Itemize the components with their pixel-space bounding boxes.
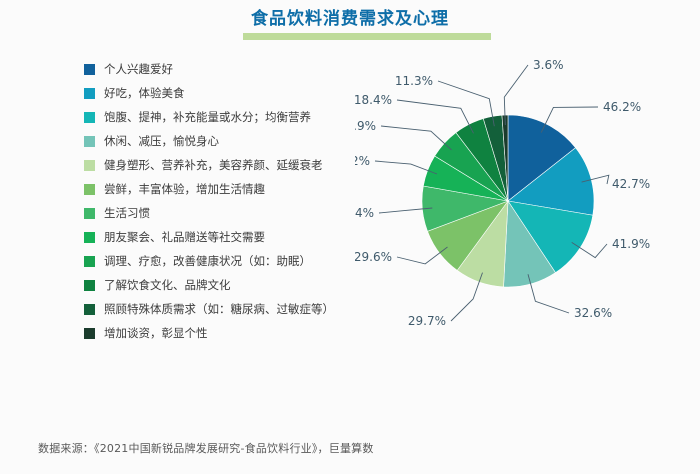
pie-chart-svg: 46.2%42.7%41.9%32.6%29.7%29.6%27.4%19.2%… <box>355 45 700 355</box>
page-title: 食品饮料消费需求及心理 <box>0 8 700 30</box>
legend-item[interactable]: 饱腹、提神，补充能量或水分；均衡营养 <box>84 108 384 132</box>
legend-item-label: 个人兴趣爱好 <box>104 60 173 79</box>
legend-color-swatch <box>84 304 95 315</box>
pie-slice-value-label: 29.6% <box>355 250 392 264</box>
pie-slice-value-label: 46.2% <box>603 100 641 114</box>
legend-item[interactable]: 增加谈资，彰显个性 <box>84 324 384 348</box>
legend-item-label: 照顾特殊体质需求（如：糖尿病、过敏症等） <box>104 300 334 319</box>
chart-legend: 个人兴趣爱好好吃，体验美食饱腹、提神，补充能量或水分；均衡营养休闲、减压，愉悦身… <box>84 60 384 348</box>
pie-slice-value-label: 27.4% <box>355 206 374 220</box>
pie-slice-value-label: 42.7% <box>612 177 650 191</box>
pie-slice-value-label: 41.9% <box>612 237 650 251</box>
legend-item-label: 休闲、减压，愉悦身心 <box>104 132 219 151</box>
legend-item[interactable]: 好吃，体验美食 <box>84 84 384 108</box>
pie-slice-value-label: 3.6% <box>533 58 564 72</box>
pie-slice-value-label: 19.2% <box>355 154 370 168</box>
legend-color-swatch <box>84 136 95 147</box>
legend-item-label: 健身塑形、营养补充，美容养颜、延缓衰老 <box>104 156 323 175</box>
legend-color-swatch <box>84 184 95 195</box>
legend-color-swatch <box>84 280 95 291</box>
legend-item-label: 生活习惯 <box>104 204 150 223</box>
legend-item[interactable]: 休闲、减压，愉悦身心 <box>84 132 384 156</box>
legend-color-swatch <box>84 112 95 123</box>
legend-item-label: 增加谈资，彰显个性 <box>104 324 208 343</box>
pie-slice-value-label: 18.9% <box>355 119 376 133</box>
source-note: 数据来源：《2021中国新锐品牌发展研究-食品饮料行业》，巨量算数 <box>38 440 374 456</box>
legend-item[interactable]: 尝鲜，丰富体验，增加生活情趣 <box>84 180 384 204</box>
pie-slice-value-label: 32.6% <box>574 306 612 320</box>
legend-color-swatch <box>84 160 95 171</box>
legend-item[interactable]: 生活习惯 <box>84 204 384 228</box>
legend-item-label: 调理、疗愈，改善健康状况（如：助眠） <box>104 252 311 271</box>
page-title-text: 食品饮料消费需求及心理 <box>0 8 700 30</box>
legend-item-label: 尝鲜，丰富体验，增加生活情趣 <box>104 180 265 199</box>
pie-chart: 46.2%42.7%41.9%32.6%29.7%29.6%27.4%19.2%… <box>355 45 700 355</box>
legend-item-label: 了解饮食文化、品牌文化 <box>104 276 231 295</box>
legend-color-swatch <box>84 64 95 75</box>
pie-label-leader-line <box>381 126 452 150</box>
legend-item[interactable]: 朋友聚会、礼品赠送等社交需要 <box>84 228 384 252</box>
legend-item[interactable]: 照顾特殊体质需求（如：糖尿病、过敏症等） <box>84 300 384 324</box>
title-underline-bar <box>243 33 491 40</box>
legend-color-swatch <box>84 208 95 219</box>
legend-item[interactable]: 个人兴趣爱好 <box>84 60 384 84</box>
slide-canvas: 食品饮料消费需求及心理 个人兴趣爱好好吃，体验美食饱腹、提神，补充能量或水分；均… <box>0 0 700 474</box>
legend-item[interactable]: 健身塑形、营养补充，美容养颜、延缓衰老 <box>84 156 384 180</box>
legend-color-swatch <box>84 328 95 339</box>
legend-item-label: 饱腹、提神，补充能量或水分；均衡营养 <box>104 108 311 127</box>
legend-color-swatch <box>84 232 95 243</box>
pie-slice-value-label: 11.3% <box>395 74 433 88</box>
legend-color-swatch <box>84 256 95 267</box>
legend-item-label: 朋友聚会、礼品赠送等社交需要 <box>104 228 265 247</box>
pie-slice-value-label: 29.7% <box>408 314 446 328</box>
legend-color-swatch <box>84 88 95 99</box>
legend-item[interactable]: 调理、疗愈，改善健康状况（如：助眠） <box>84 252 384 276</box>
legend-item-label: 好吃，体验美食 <box>104 84 185 103</box>
pie-slice-value-label: 18.4% <box>355 93 392 107</box>
legend-item[interactable]: 了解饮食文化、品牌文化 <box>84 276 384 300</box>
